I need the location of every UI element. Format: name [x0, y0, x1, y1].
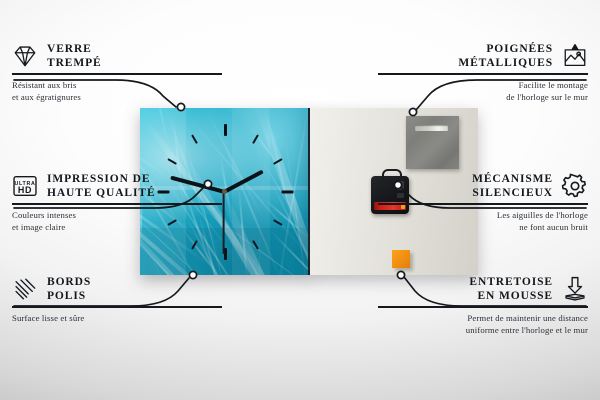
clock-tick — [273, 158, 283, 165]
callout-edges-title: BORDS POLIS — [47, 275, 91, 303]
metal-hanger-plate — [406, 116, 459, 169]
clock-hour-hand — [223, 169, 264, 193]
callout-mechanism-title: MÉCANISME SILENCIEUX — [472, 172, 553, 200]
callout-spacer: ENTRETOISE EN MOUSSE Permet de maintenir… — [378, 275, 588, 336]
callout-edges: BORDS POLIS Surface lisse et sûre — [12, 275, 222, 324]
callout-mechanism-rule — [378, 203, 588, 205]
callout-handles-header: POIGNÉES MÉTALLIQUES — [378, 42, 588, 70]
diamond-icon — [12, 43, 38, 69]
callout-handles-subtitle: Facilite le montage de l'horloge sur le … — [378, 79, 588, 103]
polished-edges-icon — [12, 276, 38, 302]
ultra-hd-icon: ultra HD — [12, 173, 38, 199]
gear-icon — [562, 173, 588, 199]
callout-mechanism: MÉCANISME SILENCIEUX Les aiguilles de l'… — [378, 172, 588, 233]
callout-mechanism-header: MÉCANISME SILENCIEUX — [378, 172, 588, 200]
clock-tick — [167, 158, 177, 165]
callout-handles-title: POIGNÉES MÉTALLIQUES — [458, 42, 553, 70]
callout-spacer-header: ENTRETOISE EN MOUSSE — [378, 275, 588, 303]
callout-print: ultra HD IMPRESSION DE HAUTE QUALITÉ Cou… — [12, 172, 222, 233]
callout-print-title: IMPRESSION DE HAUTE QUALITÉ — [47, 172, 156, 200]
clock-tick — [191, 134, 198, 144]
clock-tick — [252, 134, 259, 144]
callout-glass-title: VERRE TREMPÉ — [47, 42, 102, 70]
callout-edges-rule — [12, 306, 222, 308]
callout-mechanism-subtitle: Les aiguilles de l'horloge ne font aucun… — [378, 209, 588, 233]
clock-tick — [282, 190, 294, 193]
callout-spacer-subtitle: Permet de maintenir une distance uniform… — [378, 312, 588, 336]
callout-glass-header: VERRE TREMPÉ — [12, 42, 222, 70]
orange-foam-spacer — [392, 250, 410, 268]
callout-edges-subtitle: Surface lisse et sûre — [12, 312, 222, 324]
callout-edges-header: BORDS POLIS — [12, 275, 222, 303]
callout-handles-rule — [378, 73, 588, 75]
clock-tick — [191, 239, 198, 249]
callout-handles: POIGNÉES MÉTALLIQUES Facilite le montage… — [378, 42, 588, 103]
callout-glass-subtitle: Résistant aux bris et aux égratignures — [12, 79, 222, 103]
clock-tick — [224, 124, 227, 136]
ultra-hd-icon-big-label: HD — [18, 185, 32, 195]
clock-center-pin — [222, 189, 227, 194]
callout-print-header: ultra HD IMPRESSION DE HAUTE QUALITÉ — [12, 172, 222, 200]
callout-spacer-rule — [378, 306, 588, 308]
callout-glass-rule — [12, 73, 222, 75]
callout-spacer-title: ENTRETOISE EN MOUSSE — [469, 275, 553, 303]
foam-spacer-arrow-icon — [562, 276, 588, 302]
hanging-frame-icon — [562, 43, 588, 69]
callout-print-rule — [12, 203, 222, 205]
callout-glass: VERRE TREMPÉ Résistant aux bris et aux é… — [12, 42, 222, 103]
clock-tick — [273, 219, 283, 226]
infographic-canvas: VERRE TREMPÉ Résistant aux bris et aux é… — [0, 0, 600, 400]
clock-second-hand — [223, 192, 225, 254]
clock-tick — [252, 239, 259, 249]
callout-print-subtitle: Couleurs intenses et image claire — [12, 209, 222, 233]
hanger-slot — [415, 125, 448, 131]
